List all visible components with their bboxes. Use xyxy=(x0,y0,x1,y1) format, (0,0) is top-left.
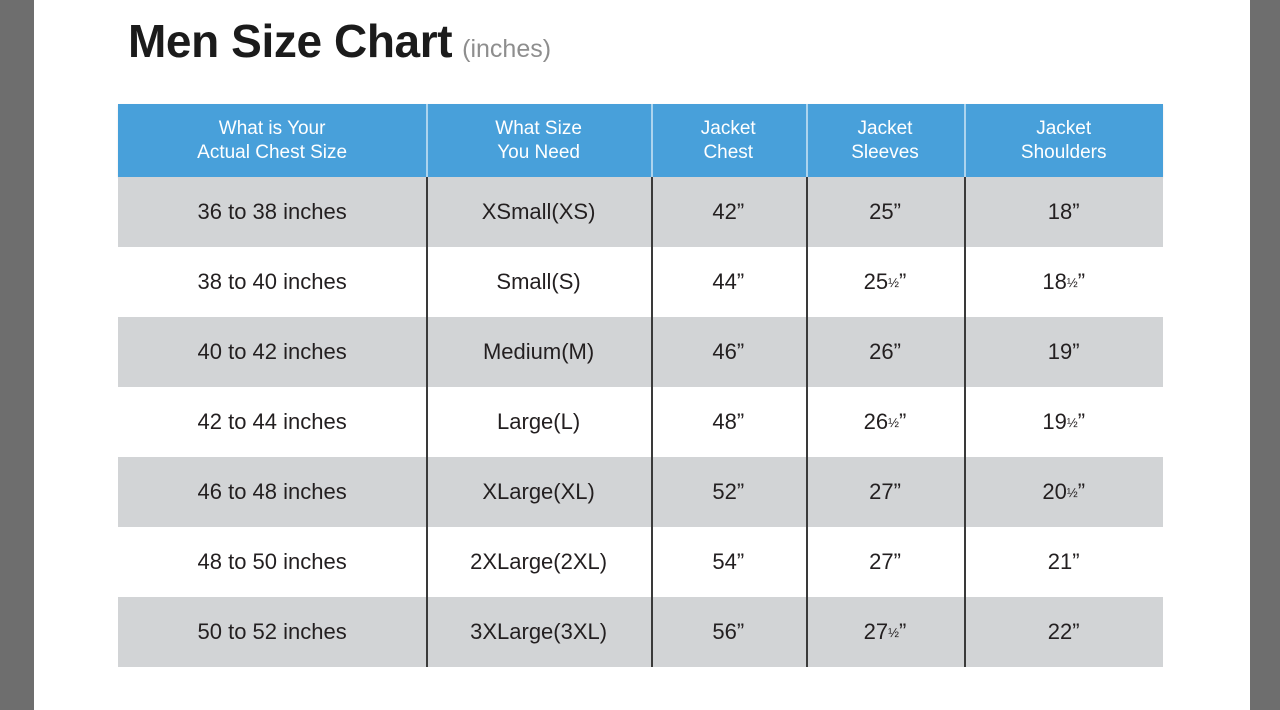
screenshot-stage: Men Size Chart (inches) What is Your Act… xyxy=(0,0,1280,710)
cell-chest-size: 38 to 40 inches xyxy=(118,247,426,317)
column-header-line-1: What Size xyxy=(495,118,582,139)
column-header-line-2: Sleeves xyxy=(851,142,919,163)
table-row: 42 to 44 inchesLarge(L)48”26½”19½” xyxy=(118,387,1163,457)
column-header-line-1: Jacket xyxy=(1036,118,1091,139)
column-header-line-1: What is Your xyxy=(219,118,326,139)
cell-jacket-sleeves: 25½” xyxy=(806,247,965,317)
page-title: Men Size Chart (inches) xyxy=(128,18,551,64)
cell-jacket-sleeves: 26” xyxy=(806,317,965,387)
table-header-row: What is Your Actual Chest Size What Size… xyxy=(118,104,1163,177)
table-row: 36 to 38 inchesXSmall(XS)42”25”18” xyxy=(118,177,1163,247)
cell-jacket-chest: 46” xyxy=(651,317,806,387)
cell-jacket-shoulders: 21” xyxy=(964,527,1163,597)
cell-jacket-sleeves: 26½” xyxy=(806,387,965,457)
cell-jacket-chest: 56” xyxy=(651,597,806,667)
cell-jacket-chest: 54” xyxy=(651,527,806,597)
cell-chest-size: 46 to 48 inches xyxy=(118,457,426,527)
cell-jacket-chest: 42” xyxy=(651,177,806,247)
size-chart-table: What is Your Actual Chest Size What Size… xyxy=(118,104,1163,667)
cell-jacket-shoulders: 19½” xyxy=(964,387,1163,457)
cell-chest-size: 40 to 42 inches xyxy=(118,317,426,387)
column-header-chest-size: What is Your Actual Chest Size xyxy=(118,104,426,177)
letterbox-left xyxy=(0,0,34,710)
cell-jacket-chest: 44” xyxy=(651,247,806,317)
cell-chest-size: 48 to 50 inches xyxy=(118,527,426,597)
cell-jacket-chest: 48” xyxy=(651,387,806,457)
column-header-line-2: You Need xyxy=(497,142,580,163)
cell-jacket-sleeves: 27” xyxy=(806,527,965,597)
cell-jacket-shoulders: 18” xyxy=(964,177,1163,247)
cell-size-needed: Medium(M) xyxy=(426,317,651,387)
column-header-line-2: Actual Chest Size xyxy=(197,142,347,163)
column-header-line-1: Jacket xyxy=(858,118,913,139)
cell-size-needed: XSmall(XS) xyxy=(426,177,651,247)
table-row: 48 to 50 inches2XLarge(2XL)54”27”21” xyxy=(118,527,1163,597)
column-header-line-1: Jacket xyxy=(701,118,756,139)
column-header-size-needed: What Size You Need xyxy=(426,104,651,177)
column-header-line-2: Shoulders xyxy=(1021,142,1107,163)
cell-jacket-shoulders: 18½” xyxy=(964,247,1163,317)
column-header-jacket-chest: Jacket Chest xyxy=(651,104,806,177)
column-header-jacket-shoulders: Jacket Shoulders xyxy=(964,104,1163,177)
cell-size-needed: 3XLarge(3XL) xyxy=(426,597,651,667)
table-row: 38 to 40 inchesSmall(S)44”25½”18½” xyxy=(118,247,1163,317)
cell-jacket-sleeves: 27” xyxy=(806,457,965,527)
cell-jacket-sleeves: 25” xyxy=(806,177,965,247)
cell-jacket-shoulders: 20½” xyxy=(964,457,1163,527)
column-header-jacket-sleeves: Jacket Sleeves xyxy=(806,104,965,177)
column-header-line-2: Chest xyxy=(703,142,753,163)
cell-size-needed: Small(S) xyxy=(426,247,651,317)
cell-jacket-shoulders: 22” xyxy=(964,597,1163,667)
cell-chest-size: 50 to 52 inches xyxy=(118,597,426,667)
table-body: 36 to 38 inchesXSmall(XS)42”25”18”38 to … xyxy=(118,177,1163,667)
table-row: 50 to 52 inches3XLarge(3XL)56”27½”22” xyxy=(118,597,1163,667)
cell-size-needed: 2XLarge(2XL) xyxy=(426,527,651,597)
size-chart-page: Men Size Chart (inches) What is Your Act… xyxy=(34,0,1250,710)
cell-size-needed: Large(L) xyxy=(426,387,651,457)
letterbox-right xyxy=(1250,0,1280,710)
cell-jacket-chest: 52” xyxy=(651,457,806,527)
cell-chest-size: 36 to 38 inches xyxy=(118,177,426,247)
table-row: 46 to 48 inchesXLarge(XL)52”27”20½” xyxy=(118,457,1163,527)
cell-jacket-sleeves: 27½” xyxy=(806,597,965,667)
page-title-unit: (inches) xyxy=(462,37,551,62)
cell-size-needed: XLarge(XL) xyxy=(426,457,651,527)
table-row: 40 to 42 inchesMedium(M)46”26”19” xyxy=(118,317,1163,387)
cell-chest-size: 42 to 44 inches xyxy=(118,387,426,457)
cell-jacket-shoulders: 19” xyxy=(964,317,1163,387)
page-title-main: Men Size Chart xyxy=(128,18,452,64)
